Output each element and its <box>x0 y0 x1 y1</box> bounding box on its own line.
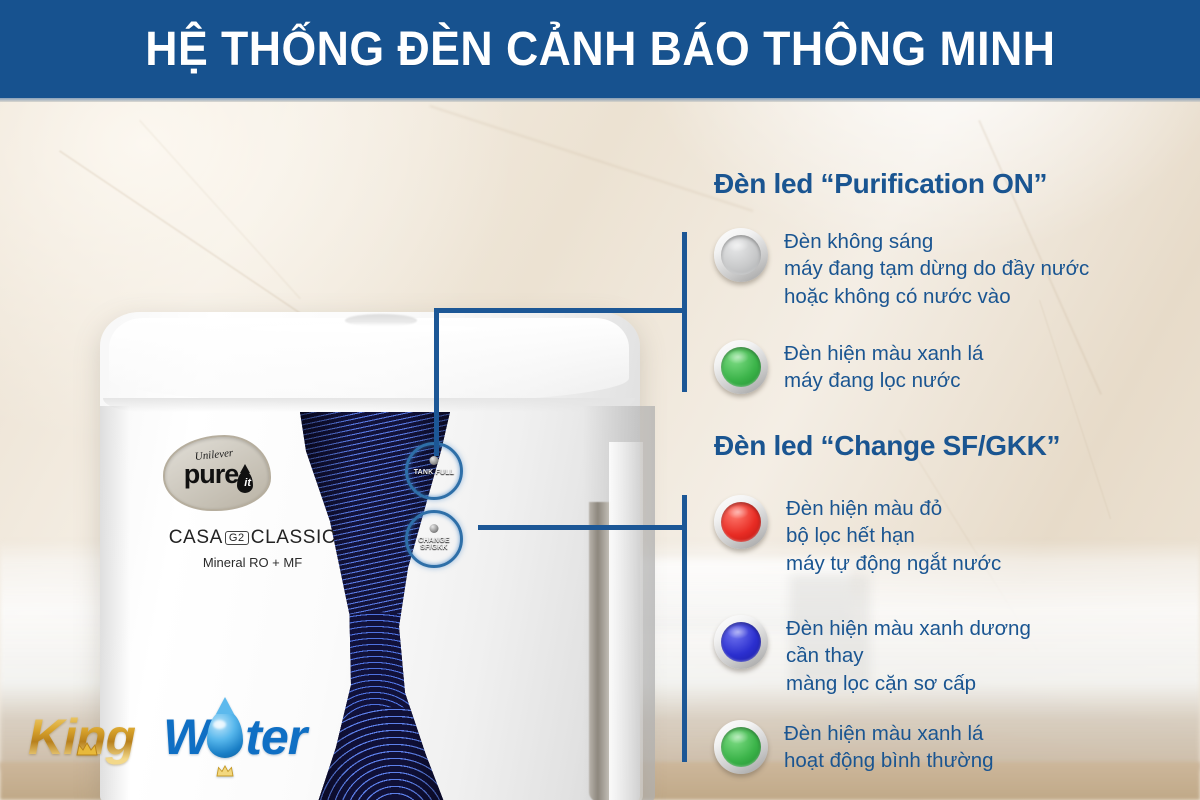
purifier-top-highlight <box>245 324 485 333</box>
legend-row-blue: Đèn hiện màu xanh dương cần thay màng lọ… <box>714 615 1031 697</box>
legend-text-green-normal: Đèn hiện màu xanh lá hoạt động bình thườ… <box>784 720 994 775</box>
legend-line: Đèn hiện màu xanh dương <box>786 615 1031 642</box>
led-core <box>721 727 761 767</box>
led-core <box>721 502 761 542</box>
header-banner: HỆ THỐNG ĐÈN CẢNH BÁO THÔNG MINH <box>0 0 1200 98</box>
model-prefix: CASA <box>169 527 223 548</box>
connector-drop-top <box>434 308 439 456</box>
connector-horizontal-top <box>434 308 686 313</box>
legend-text-blue: Đèn hiện màu xanh dương cần thay màng lọ… <box>786 615 1031 697</box>
led-indicator-green-normal[interactable] <box>714 720 768 774</box>
legend-row-off: Đèn không sáng máy đang tạm dừng do đầy … <box>714 228 1089 310</box>
legend-line: màng lọc cặn sơ cấp <box>786 670 1031 697</box>
model-generation-badge: G2 <box>225 531 249 545</box>
led-core <box>721 347 761 387</box>
purifier-top-edge <box>103 398 635 412</box>
logo-word-king: King <box>28 708 135 766</box>
product-technology-label: Mineral RO + MF <box>135 555 370 570</box>
legend-text-red: Đèn hiện màu đỏ bộ lọc hết hạn máy tự độ… <box>786 495 1001 577</box>
section-title-change-sf-gkk: Đèn led “Change SF/GKK” <box>714 430 1060 462</box>
led-indicator-off[interactable] <box>714 228 768 282</box>
led-indicator-green[interactable] <box>714 340 768 394</box>
device-led-label: TANK FULL <box>408 469 460 476</box>
header-divider <box>0 98 1200 102</box>
legend-line: Đèn hiện màu xanh lá <box>784 340 983 367</box>
legend-line: Đèn hiện màu đỏ <box>786 495 1001 522</box>
logo-water-suffix: ter <box>245 709 306 765</box>
legend-line: hoặc không có nước vào <box>784 283 1089 310</box>
page-title: HỆ THỐNG ĐÈN CẢNH BÁO THÔNG MINH <box>145 22 1055 77</box>
pureit-logo-badge: Unilever pure it <box>163 435 271 511</box>
device-led-label: CHANGE SF/GKK <box>408 537 460 551</box>
device-led-dot <box>430 524 439 533</box>
legend-text-off: Đèn không sáng máy đang tạm dừng do đầy … <box>784 228 1089 310</box>
legend-text-green-filtering: Đèn hiện màu xanh lá máy đang lọc nước <box>784 340 983 395</box>
legend-row-green-filtering: Đèn hiện màu xanh lá máy đang lọc nước <box>714 340 983 395</box>
legend-line: Đèn hiện màu xanh lá <box>784 720 994 747</box>
legend-line: cần thay <box>786 642 1031 669</box>
led-indicator-blue[interactable] <box>714 615 768 669</box>
connector-horizontal-bottom <box>478 525 686 530</box>
king-water-logo[interactable]: King Wter <box>28 706 306 768</box>
connector-vertical-bottom <box>682 495 687 762</box>
legend-line: máy tự động ngắt nước <box>786 550 1001 577</box>
product-model-name: CASAG2CLASSIC <box>135 527 370 549</box>
led-indicator-red[interactable] <box>714 495 768 549</box>
pureit-suffix: it <box>244 477 251 489</box>
legend-line: máy đang tạm dừng do đầy nước <box>784 255 1089 282</box>
legend-row-red: Đèn hiện màu đỏ bộ lọc hết hạn máy tự độ… <box>714 495 1001 577</box>
logo-water-prefix: W <box>163 709 209 765</box>
crown-icon <box>76 710 98 724</box>
device-led-dot <box>430 456 439 465</box>
purifier-side-gap <box>589 502 611 800</box>
legend-line: máy đang lọc nước <box>784 367 983 394</box>
legend-line: Đèn không sáng <box>784 228 1089 255</box>
legend-row-green-normal: Đèn hiện màu xanh lá hoạt động bình thườ… <box>714 720 994 775</box>
device-led-change-sf-gkk[interactable]: CHANGE SF/GKK <box>405 510 463 568</box>
legend-line: hoạt động bình thường <box>784 747 994 774</box>
model-suffix: CLASSIC <box>251 527 337 548</box>
legend-line: bộ lọc hết hạn <box>786 522 1001 549</box>
section-title-purification-on: Đèn led “Purification ON” <box>714 168 1047 200</box>
water-droplet-icon <box>207 710 243 758</box>
led-core <box>721 622 761 662</box>
purifier-side-highlight <box>609 442 643 800</box>
infographic-canvas: HỆ THỐNG ĐÈN CẢNH BÁO THÔNG MINH TANK FU… <box>0 0 1200 800</box>
logo-word-water: Wter <box>163 708 306 766</box>
led-core <box>721 235 761 275</box>
